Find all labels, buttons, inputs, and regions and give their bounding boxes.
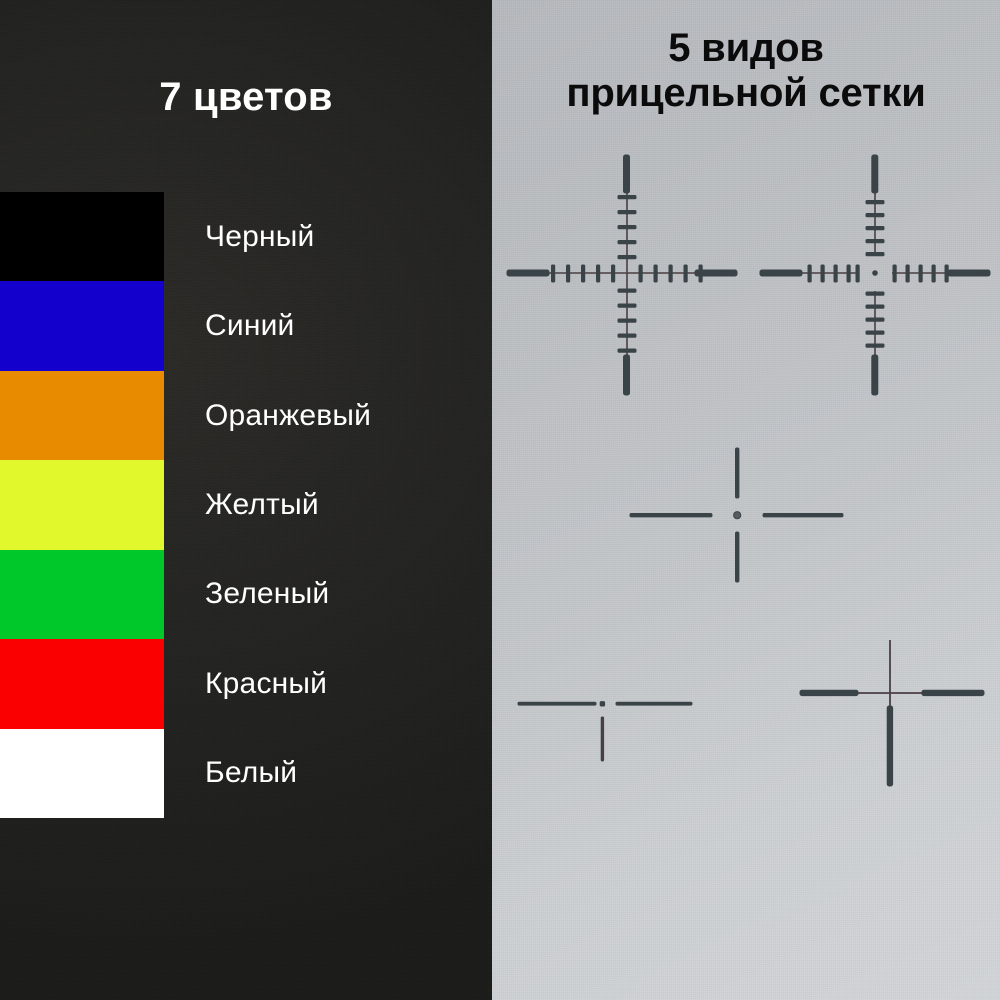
reticle-duplex-post-crosshair xyxy=(772,640,1000,820)
color-label-stack: Черный Синий Оранжевый Желтый Зеленый Кр… xyxy=(205,192,485,818)
reticles-panel: 5 видов прицельной сетки xyxy=(492,0,1000,1000)
colors-panel-title: 7 цветов xyxy=(0,76,492,118)
reticle-mil-dot-gap-center-crosshair xyxy=(760,155,990,395)
color-label-green: Зеленый xyxy=(205,550,485,639)
color-swatch-orange xyxy=(0,371,164,460)
color-label-yellow: Желтый xyxy=(205,460,485,549)
reticles-panel-title: 5 видов прицельной сетки xyxy=(492,26,1000,116)
reticle-mil-dot-hash-crosshair xyxy=(507,155,737,395)
color-label-white: Белый xyxy=(205,729,485,818)
color-swatch-stack xyxy=(0,192,164,818)
color-label-red: Красный xyxy=(205,639,485,728)
color-swatch-green xyxy=(0,550,164,639)
color-swatch-black xyxy=(0,192,164,281)
reticle-dot-with-bottom-stem xyxy=(502,665,732,795)
color-swatch-yellow xyxy=(0,460,164,549)
colors-panel: 7 цветов Черный Синий Оранжевый Желтый З… xyxy=(0,0,492,1000)
color-label-blue: Синий xyxy=(205,281,485,370)
reticles-title-line-1: 5 видов xyxy=(492,26,1000,71)
reticles-title-line-2: прицельной сетки xyxy=(492,71,1000,116)
reticle-german-4-dot-crosshair xyxy=(618,440,848,590)
color-swatch-blue xyxy=(0,281,164,370)
color-swatch-white xyxy=(0,729,164,818)
color-label-orange: Оранжевый xyxy=(205,371,485,460)
color-swatch-red xyxy=(0,639,164,728)
color-label-black: Черный xyxy=(205,192,485,281)
promo-image: 7 цветов Черный Синий Оранжевый Желтый З… xyxy=(0,0,1000,1000)
